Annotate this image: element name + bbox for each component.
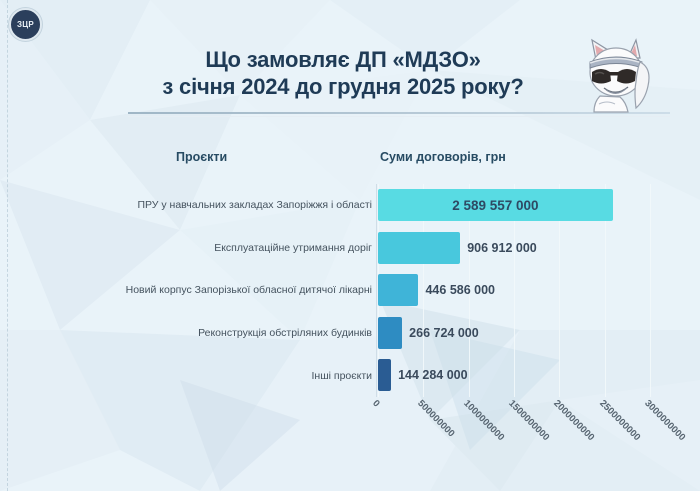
bar-row: 446 586 000 — [378, 269, 650, 312]
category-label: Експлуатаційне утримання доріг — [20, 227, 372, 270]
bar-chart: 2 589 557 000906 912 000446 586 000266 7… — [378, 184, 650, 397]
bar[interactable] — [378, 232, 460, 264]
column-header-sums: Суми договорів, грн — [380, 150, 506, 164]
bar-row: 144 284 000 — [378, 354, 650, 397]
bar-value-label: 144 284 000 — [398, 359, 468, 391]
bar-row: 906 912 000 — [378, 227, 650, 270]
bar-value-label: 906 912 000 — [467, 232, 537, 264]
x-tick-label: 2500000000 — [597, 398, 642, 443]
category-label: Реконструкція обстріляних будинків — [20, 312, 372, 355]
page-title: Що замовляє ДП «МДЗО» з січня 2024 до гр… — [128, 46, 558, 100]
logo-text: ЗЦР — [17, 20, 34, 29]
title-line-1: Що замовляє ДП «МДЗО» — [128, 46, 558, 73]
infographic-page: ЗЦР Що замовляє ДП «МДЗО» з січня 2024 д… — [0, 0, 700, 491]
bar[interactable] — [378, 274, 418, 306]
x-tick-label: 2000000000 — [552, 398, 597, 443]
x-tick-label: 500000000 — [416, 398, 457, 439]
category-label-list: ПРУ у навчальних закладах Запоріжжя і об… — [20, 184, 372, 397]
title-line-2: з січня 2024 до грудня 2025 року? — [128, 73, 558, 100]
category-label: Новий корпус Запорізької обласної дитячо… — [20, 269, 372, 312]
y-axis-line — [376, 184, 377, 397]
left-dashed-rule — [7, 0, 8, 491]
bar[interactable] — [378, 317, 402, 349]
bar[interactable] — [378, 359, 391, 391]
zcr-logo[interactable]: ЗЦР — [9, 8, 42, 41]
bar-row: 266 724 000 — [378, 312, 650, 355]
bar-value-label: 266 724 000 — [409, 317, 479, 349]
bar-value-label: 446 586 000 — [425, 274, 495, 306]
x-axis-tick-labels: 0500000000100000000015000000002000000000… — [378, 398, 678, 488]
column-header-projects: Проєкти — [176, 150, 227, 164]
cat-mascot-icon — [566, 32, 658, 116]
gridline — [650, 184, 651, 397]
bar-rows: 2 589 557 000906 912 000446 586 000266 7… — [378, 184, 650, 397]
bar-row: 2 589 557 000 — [378, 184, 650, 227]
category-label: ПРУ у навчальних закладах Запоріжжя і об… — [20, 184, 372, 227]
bar-value-label: 2 589 557 000 — [378, 189, 613, 221]
x-tick-label: 1000000000 — [461, 398, 506, 443]
category-label: Інші проєкти — [20, 354, 372, 397]
x-tick-label: 1500000000 — [506, 398, 551, 443]
title-divider-shadow — [128, 116, 670, 117]
